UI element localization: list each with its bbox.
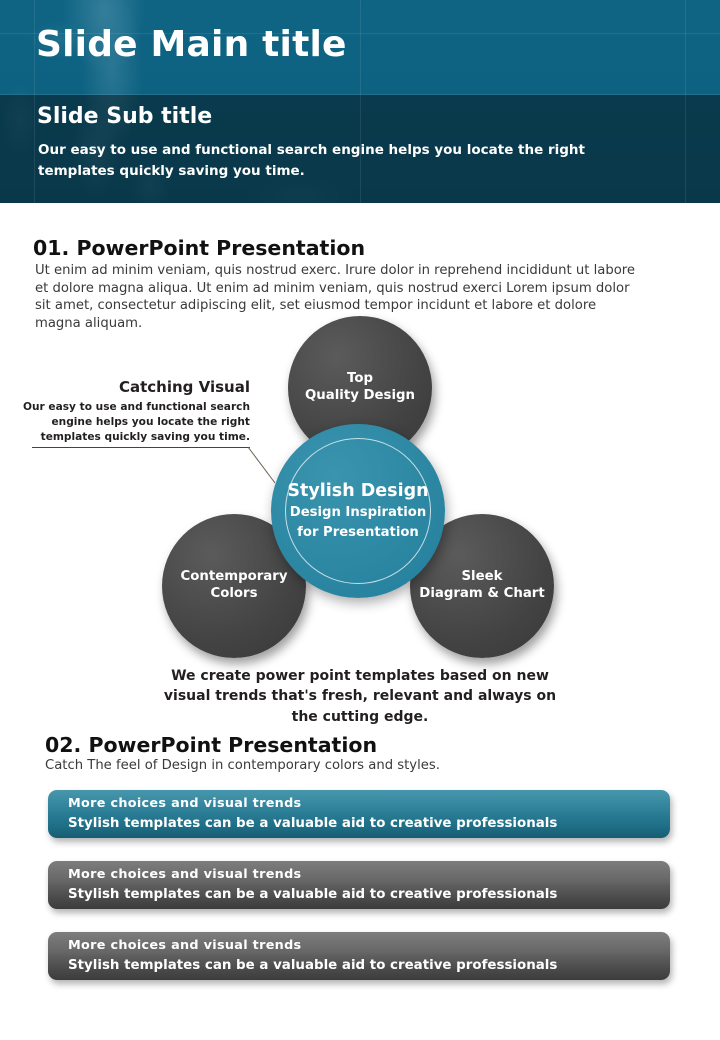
feature-bar-2-line1: More choices and visual trends: [68, 866, 670, 885]
callout-label: Catching Visual Our easy to use and func…: [20, 378, 250, 445]
callout-body: Our easy to use and functional search en…: [20, 400, 250, 445]
diagram-node-center[interactable]: Stylish Design Design Inspiration for Pr…: [271, 424, 445, 598]
callout-underline: [32, 447, 250, 448]
slide-main-title: Slide Main title: [36, 27, 347, 63]
feature-bar-2-line2: Stylish templates can be a valuable aid …: [68, 885, 670, 904]
diagram-node-left-line2: Colors: [181, 586, 288, 603]
grid-line-vertical: [34, 0, 35, 203]
feature-bar-1-line2: Stylish templates can be a valuable aid …: [68, 814, 670, 833]
grid-line-horizontal: [0, 94, 720, 95]
slide-sub-description: Our easy to use and functional search en…: [38, 140, 618, 182]
section-02-body: Catch The feel of Design in contemporary…: [45, 758, 440, 773]
diagram-node-right-line1: Sleek: [419, 569, 544, 586]
feature-bar-1-line1: More choices and visual trends: [68, 795, 670, 814]
diagram-node-top-line1: Top: [305, 371, 415, 388]
section-01-title: 01. PowerPoint Presentation: [33, 236, 365, 260]
diagram-node-left-line1: Contemporary: [181, 569, 288, 586]
slide-sub-title: Slide Sub title: [37, 106, 212, 128]
diagram-node-top-line2: Quality Design: [305, 388, 415, 405]
center-title: Stylish Design: [287, 481, 428, 502]
diagram-caption: We create power point templates based on…: [160, 666, 560, 727]
callout-leader-line-icon: [248, 443, 278, 485]
grid-line-vertical: [685, 0, 686, 203]
callout-title: Catching Visual: [20, 378, 250, 396]
circle-diagram: Top Quality Design Contemporary Colors S…: [0, 305, 720, 665]
slide-header: Slide Main title Slide Sub title Our eas…: [0, 0, 720, 203]
feature-bar-3[interactable]: More choices and visual trends Stylish t…: [48, 932, 670, 980]
feature-bar-1[interactable]: More choices and visual trends Stylish t…: [48, 790, 670, 838]
feature-bar-3-line2: Stylish templates can be a valuable aid …: [68, 956, 670, 975]
center-subtitle-line1: Design Inspiration: [287, 505, 428, 522]
diagram-node-right-line2: Diagram & Chart: [419, 586, 544, 603]
feature-bar-3-line1: More choices and visual trends: [68, 937, 670, 956]
feature-bar-2[interactable]: More choices and visual trends Stylish t…: [48, 861, 670, 909]
section-02-title: 02. PowerPoint Presentation: [45, 733, 377, 757]
center-subtitle-line2: for Presentation: [287, 525, 428, 542]
